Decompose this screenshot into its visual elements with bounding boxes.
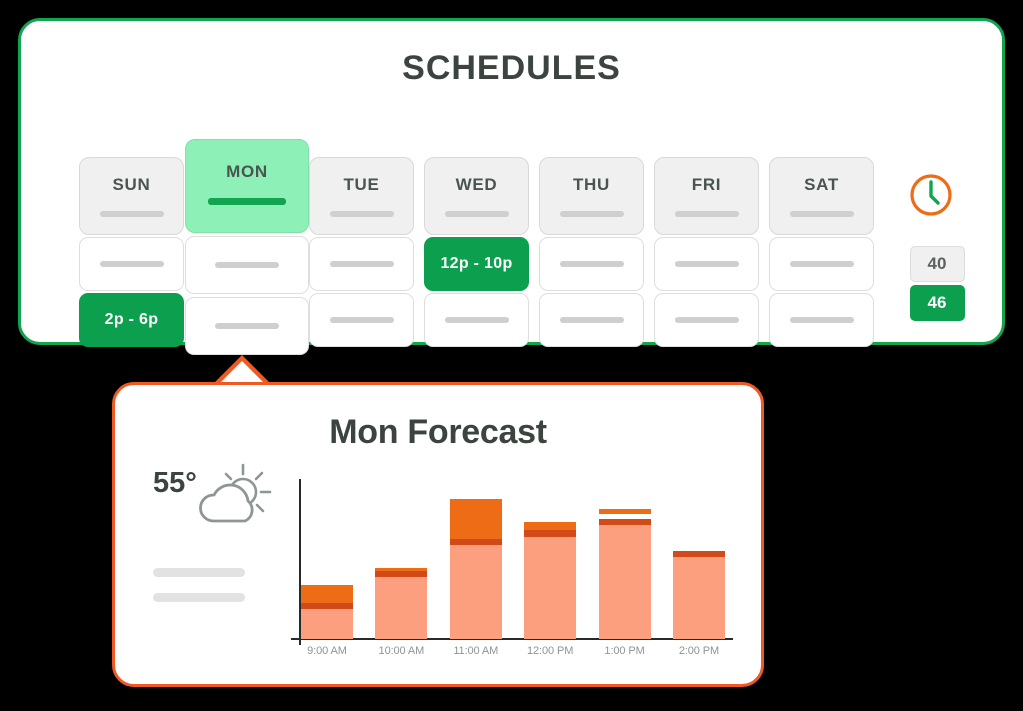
bar-segment-base — [301, 609, 353, 639]
day-header-sun[interactable]: SUN — [79, 157, 184, 235]
day-column-tue[interactable]: TUE — [309, 157, 414, 347]
condition-placeholder-lines — [153, 568, 293, 602]
day-label: WED — [425, 175, 528, 195]
week-strip: SUN2p - 6pMONTUEWED12p - 10pTHUFRISAT — [79, 139, 978, 329]
chart-bar — [524, 479, 576, 639]
empty-slot[interactable] — [185, 297, 309, 355]
day-header-wed[interactable]: WED — [424, 157, 529, 235]
empty-slot[interactable] — [309, 293, 414, 347]
empty-slot[interactable] — [79, 237, 184, 291]
day-label: FRI — [655, 175, 758, 195]
screen: SCHEDULES SUN2p - 6pMONTUEWED12p - 10pTH… — [0, 0, 1023, 711]
day-column-fri[interactable]: FRI — [654, 157, 759, 347]
day-label: TUE — [310, 175, 413, 195]
schedules-panel: SCHEDULES SUN2p - 6pMONTUEWED12p - 10pTH… — [18, 18, 1005, 345]
placeholder-line — [445, 317, 509, 323]
placeholder-line — [100, 261, 164, 267]
bar-segment-divider — [524, 530, 576, 537]
temperature-value: 55° — [153, 463, 197, 498]
day-header-accent-line — [560, 211, 624, 217]
bar-segment-base — [599, 525, 651, 639]
bar-segment-base — [524, 537, 576, 639]
chart-bar — [375, 479, 427, 639]
actual-hours-chip[interactable]: 46 — [910, 285, 965, 321]
day-column-mon[interactable]: MON — [185, 139, 309, 355]
chart-bar — [450, 479, 502, 639]
day-column-thu[interactable]: THU — [539, 157, 644, 347]
day-label: MON — [186, 162, 308, 182]
day-header-tue[interactable]: TUE — [309, 157, 414, 235]
forecast-panel: Mon Forecast 55° — [112, 382, 764, 687]
bar-segment-peak — [301, 585, 353, 603]
chart-bar — [301, 479, 353, 639]
chart-bars — [301, 479, 725, 639]
day-header-accent-line — [675, 211, 739, 217]
placeholder-line — [330, 261, 394, 267]
day-header-thu[interactable]: THU — [539, 157, 644, 235]
chart-x-tick-label: 1:00 PM — [599, 645, 651, 657]
day-header-accent-line — [330, 211, 394, 217]
chart-x-tick-label: 12:00 PM — [524, 645, 576, 657]
day-header-mon[interactable]: MON — [185, 139, 309, 233]
chart-bar — [599, 479, 651, 639]
placeholder-line — [675, 317, 739, 323]
chart-x-labels: 9:00 AM10:00 AM11:00 AM12:00 PM1:00 PM2:… — [301, 645, 725, 657]
bar-segment-base — [450, 545, 502, 639]
placeholder-line — [153, 568, 245, 577]
forecast-title: Mon Forecast — [115, 413, 761, 452]
bar-segment-peak — [450, 499, 502, 539]
empty-slot[interactable] — [769, 237, 874, 291]
day-label: SAT — [770, 175, 873, 195]
shift-badge[interactable]: 2p - 6p — [79, 293, 184, 347]
placeholder-line — [215, 323, 279, 329]
hourly-forecast-chart: 9:00 AM10:00 AM11:00 AM12:00 PM1:00 PM2:… — [283, 479, 733, 659]
day-header-fri[interactable]: FRI — [654, 157, 759, 235]
day-column-sat[interactable]: SAT — [769, 157, 874, 347]
empty-slot[interactable] — [424, 293, 529, 347]
placeholder-line — [215, 262, 279, 268]
current-conditions: 55° — [153, 463, 293, 602]
bar-segment-base — [375, 577, 427, 639]
page-title: SCHEDULES — [21, 49, 1002, 88]
sun-behind-cloud-icon — [197, 463, 273, 534]
empty-slot[interactable] — [539, 293, 644, 347]
chart-x-tick-label: 2:00 PM — [673, 645, 725, 657]
placeholder-line — [560, 261, 624, 267]
day-label: THU — [540, 175, 643, 195]
empty-slot[interactable] — [539, 237, 644, 291]
chart-x-tick-label: 9:00 AM — [301, 645, 353, 657]
placeholder-line — [153, 593, 245, 602]
day-header-accent-line — [790, 211, 854, 217]
day-column-wed[interactable]: WED12p - 10p — [424, 157, 529, 347]
empty-slot[interactable] — [654, 237, 759, 291]
day-header-accent-line — [100, 211, 164, 217]
shift-time-label: 12p - 10p — [440, 255, 512, 273]
placeholder-line — [675, 261, 739, 267]
shift-badge[interactable]: 12p - 10p — [424, 237, 529, 291]
day-header-sat[interactable]: SAT — [769, 157, 874, 235]
empty-slot[interactable] — [185, 236, 309, 294]
chart-x-tick-label: 11:00 AM — [450, 645, 502, 657]
placeholder-line — [560, 317, 624, 323]
clock-icon — [907, 171, 967, 224]
scheduled-hours-chip[interactable]: 40 — [910, 246, 965, 282]
shift-time-label: 2p - 6p — [105, 311, 159, 329]
placeholder-line — [790, 261, 854, 267]
chart-x-tick-label: 10:00 AM — [375, 645, 427, 657]
chart-bar — [673, 479, 725, 639]
day-column-sun[interactable]: SUN2p - 6p — [79, 157, 184, 347]
day-label: SUN — [80, 175, 183, 195]
bar-segment-base — [673, 557, 725, 639]
placeholder-line — [330, 317, 394, 323]
empty-slot[interactable] — [654, 293, 759, 347]
empty-slot[interactable] — [769, 293, 874, 347]
totals-group: 40 46 — [907, 171, 967, 321]
bar-segment-peak — [524, 522, 576, 530]
day-header-accent-line — [208, 198, 286, 205]
forecast-pointer — [212, 355, 272, 385]
placeholder-line — [790, 317, 854, 323]
day-header-accent-line — [445, 211, 509, 217]
empty-slot[interactable] — [309, 237, 414, 291]
